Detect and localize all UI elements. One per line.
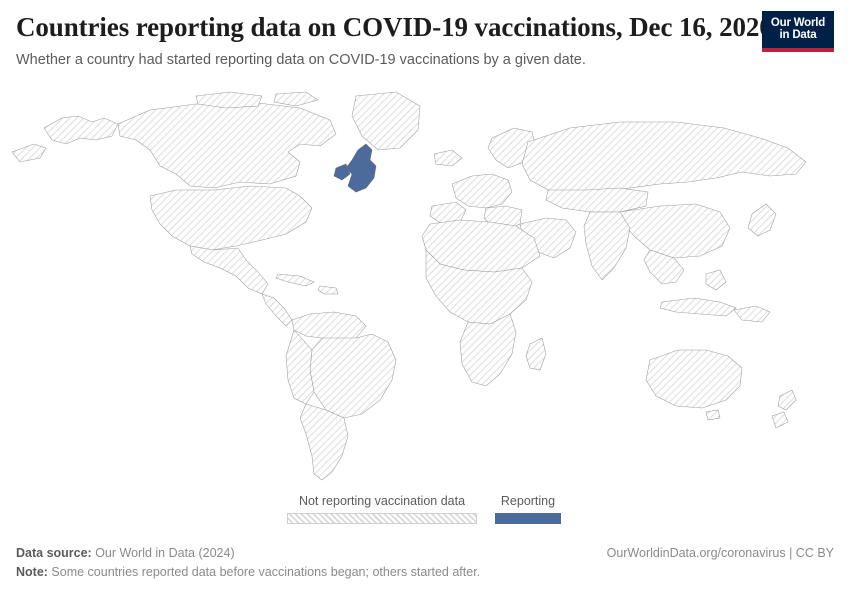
footer-note-value: Some countries reported data before vacc…: [48, 565, 480, 579]
world-map-svg[interactable]: [0, 88, 850, 488]
attribution-link[interactable]: OurWorldinData.org/coronavirus | CC BY: [607, 546, 834, 560]
footer: Data source: Our World in Data (2024) Ou…: [16, 546, 834, 590]
footer-note-label: Note:: [16, 565, 48, 579]
legend-item-not-reporting[interactable]: Not reporting vaccination data: [287, 494, 477, 524]
header: Countries reporting data on COVID-19 vac…: [16, 10, 834, 70]
legend-item-reporting[interactable]: Reporting: [495, 494, 561, 524]
countries-reporting: [334, 144, 376, 192]
footer-note: Note: Some countries reported data befor…: [16, 565, 480, 579]
country-russia[interactable]: [522, 122, 806, 194]
world-map[interactable]: [0, 88, 850, 488]
country-new-zealand[interactable]: [772, 390, 796, 428]
country-iceland[interactable]: [434, 150, 462, 166]
countries-not-reporting: [12, 92, 806, 480]
country-australia[interactable]: [646, 350, 742, 408]
country-southern-africa[interactable]: [460, 314, 516, 386]
owid-logo-line1: Our World: [771, 18, 825, 30]
data-source: Data source: Our World in Data (2024): [16, 546, 235, 560]
legend-label-not-reporting: Not reporting vaccination data: [299, 494, 465, 509]
country-canada-arctic[interactable]: [196, 92, 318, 108]
country-united-kingdom[interactable]: [334, 144, 376, 192]
country-greenland[interactable]: [352, 92, 420, 150]
country-india[interactable]: [584, 212, 630, 280]
owid-logo[interactable]: Our World in Data: [762, 11, 834, 52]
country-peru-bolivia[interactable]: [286, 330, 314, 404]
country-japan[interactable]: [748, 204, 776, 236]
country-tasmania[interactable]: [706, 410, 720, 420]
country-hispaniola[interactable]: [318, 286, 338, 294]
country-alaska[interactable]: [12, 116, 118, 162]
owid-map-chart: Countries reporting data on COVID-19 vac…: [0, 0, 850, 600]
country-colombia-venezuela[interactable]: [292, 312, 366, 340]
country-western-europe[interactable]: [452, 174, 512, 208]
country-papua-new-guinea[interactable]: [734, 306, 770, 322]
country-united-states[interactable]: [150, 186, 312, 250]
owid-logo-line2: in Data: [780, 30, 817, 42]
country-brazil[interactable]: [310, 334, 396, 418]
legend-swatch-reporting: [495, 513, 561, 524]
page-title: Countries reporting data on COVID-19 vac…: [16, 10, 834, 44]
page-subtitle: Whether a country had started reporting …: [16, 50, 834, 70]
country-china-mongolia[interactable]: [620, 204, 730, 258]
legend-swatch-not-reporting: [287, 513, 477, 524]
data-source-value: Our World in Data (2024): [92, 546, 235, 560]
country-mexico[interactable]: [190, 246, 268, 294]
country-madagascar[interactable]: [526, 338, 546, 370]
country-canada[interactable]: [118, 102, 336, 188]
country-cuba[interactable]: [276, 274, 314, 286]
data-source-label: Data source:: [16, 546, 92, 560]
country-philippines[interactable]: [706, 270, 726, 290]
country-indonesia[interactable]: [660, 298, 736, 316]
country-central-asia[interactable]: [546, 188, 648, 212]
map-legend: Not reporting vaccination data Reporting: [0, 494, 850, 530]
legend-label-reporting: Reporting: [501, 494, 555, 509]
country-central-america[interactable]: [262, 294, 292, 326]
